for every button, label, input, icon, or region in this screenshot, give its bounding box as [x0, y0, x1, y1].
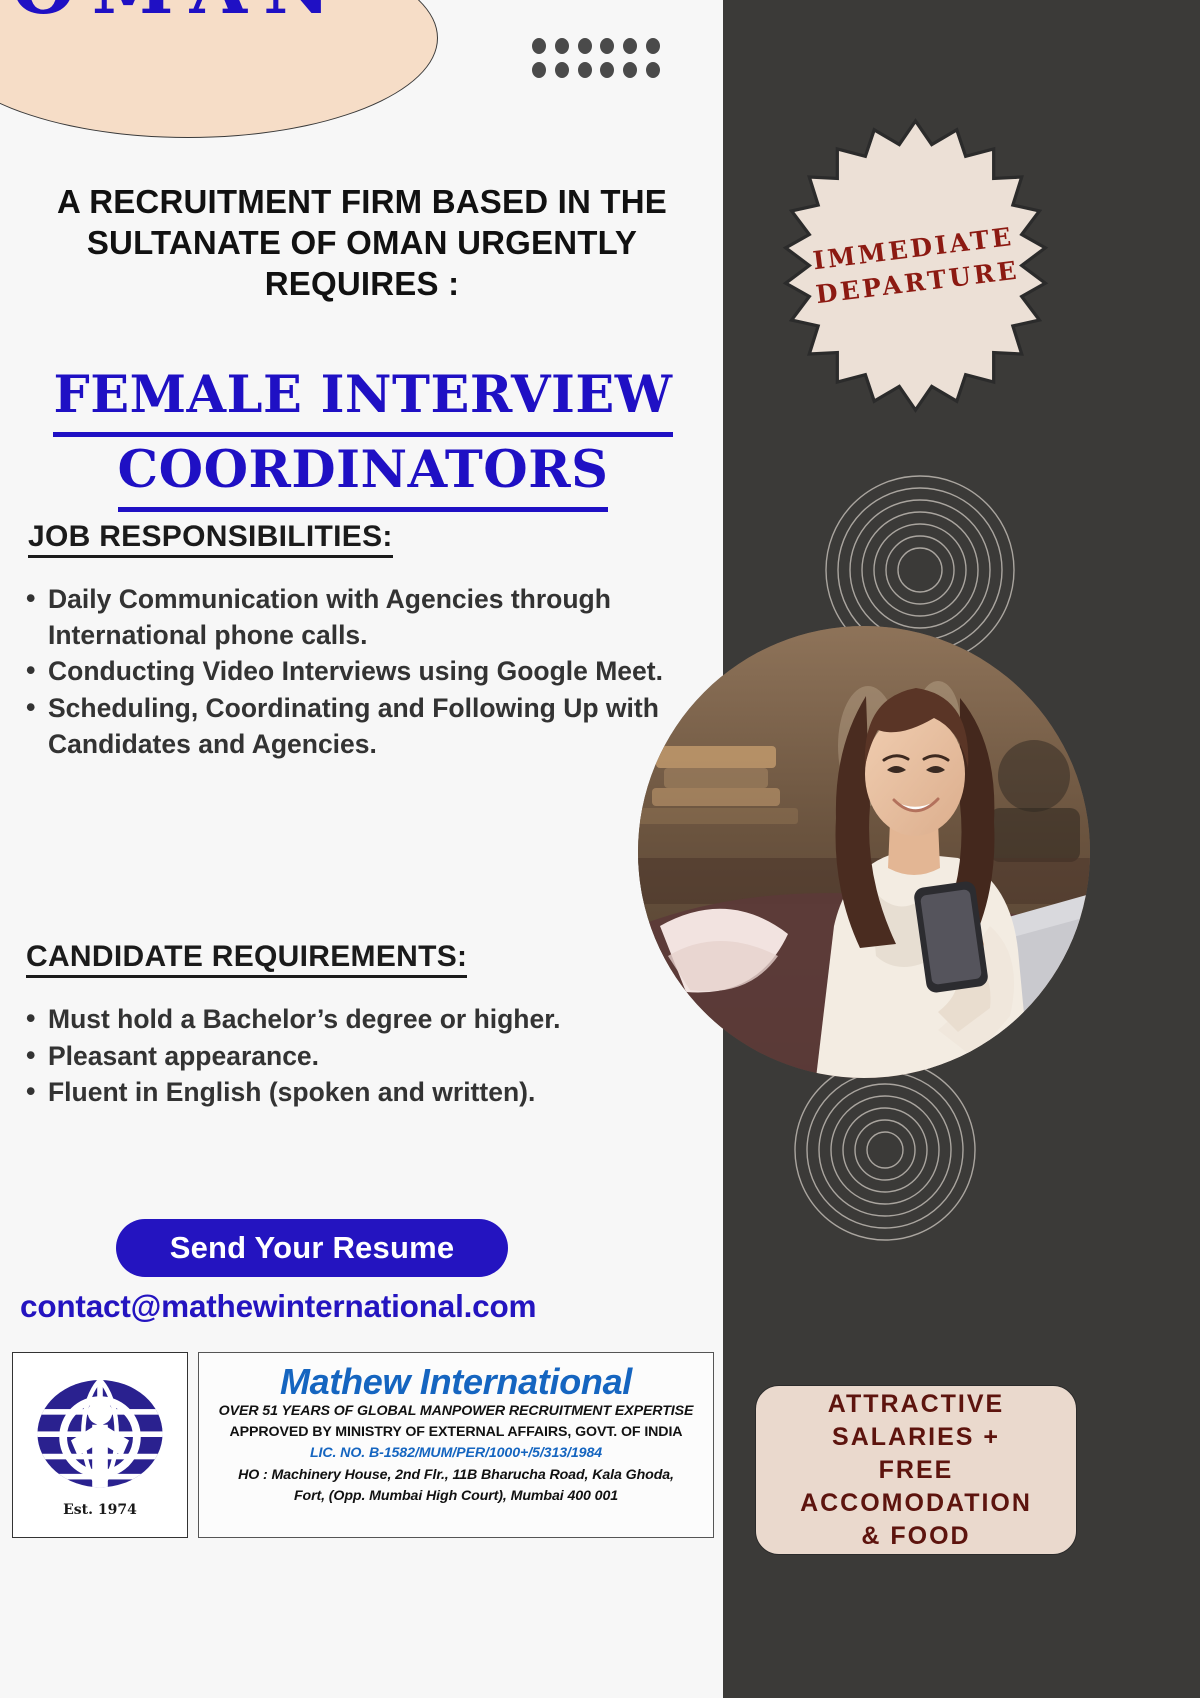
- requirements-list: Must hold a Bachelor’s degree or higher.…: [18, 1002, 666, 1112]
- list-item: Conducting Video Interviews using Google…: [18, 654, 666, 690]
- perks-line-3: FREE: [800, 1454, 1032, 1487]
- page-title: FEMALE INTERVIEW COORDINATORS: [14, 362, 712, 512]
- recruitment-poster: OMAN A RECRUITMENT FIRM BASED IN THE SUL…: [0, 0, 1200, 1698]
- send-resume-button[interactable]: Send Your Resume: [116, 1219, 508, 1277]
- company-info-box: Mathew International OVER 51 YEARS OF GL…: [198, 1352, 714, 1538]
- responsibilities-list: Daily Communication with Agencies throug…: [18, 582, 666, 763]
- list-item: Scheduling, Coordinating and Following U…: [18, 691, 666, 762]
- page-headline: A RECRUITMENT FIRM BASED IN THE SULTANAT…: [28, 182, 696, 305]
- company-tagline: OVER 51 YEARS OF GLOBAL MANPOWER RECRUIT…: [199, 1401, 713, 1422]
- job-title-line-1: FEMALE INTERVIEW: [53, 362, 672, 437]
- company-address-line-1: HO : Machinery House, 2nd Flr., 11B Bhar…: [199, 1465, 713, 1486]
- dots-decoration-icon: [532, 38, 662, 78]
- country-badge-label: OMAN: [0, 0, 399, 25]
- company-logo: Est. 1974: [12, 1352, 188, 1538]
- logo-established-label: Est. 1974: [63, 1502, 137, 1518]
- contact-email[interactable]: contact@mathewinternational.com: [20, 1288, 700, 1325]
- company-name: Mathew International: [199, 1363, 713, 1401]
- list-item: Must hold a Bachelor’s degree or higher.: [18, 1002, 666, 1038]
- job-title-line-2: COORDINATORS: [118, 437, 609, 512]
- perks-line-1: ATTRACTIVE: [800, 1388, 1032, 1421]
- woman-with-phone-image: [638, 626, 1090, 1078]
- list-item: Fluent in English (spoken and written).: [18, 1075, 666, 1111]
- perks-badge: ATTRACTIVE SALARIES + FREE ACCOMODATION …: [755, 1385, 1077, 1555]
- rings-decoration-bottom-icon: [790, 1055, 980, 1245]
- list-item: Pleasant appearance.: [18, 1039, 666, 1075]
- perks-line-5: & FOOD: [800, 1520, 1032, 1553]
- company-license: LIC. NO. B-1582/MUM/PER/1000+/5/313/1984: [199, 1443, 713, 1464]
- perks-line-2: SALARIES +: [800, 1421, 1032, 1454]
- company-address-line-2: Fort, (Opp. Mumbai High Court), Mumbai 4…: [199, 1486, 713, 1507]
- requirements-heading: CANDIDATE REQUIREMENTS:: [26, 940, 467, 978]
- candidate-photo: [638, 626, 1090, 1078]
- company-approval: APPROVED BY MINISTRY OF EXTERNAL AFFAIRS…: [199, 1422, 713, 1443]
- starburst-shape-icon: [768, 118, 1063, 413]
- list-item: Daily Communication with Agencies throug…: [18, 582, 666, 653]
- perks-line-4: ACCOMODATION: [800, 1487, 1032, 1520]
- globe-person-logo-icon: [33, 1373, 167, 1501]
- immediate-departure-badge: IMMEDIATE DEPARTURE: [768, 118, 1063, 413]
- responsibilities-heading: JOB RESPONSIBILITIES:: [28, 520, 393, 558]
